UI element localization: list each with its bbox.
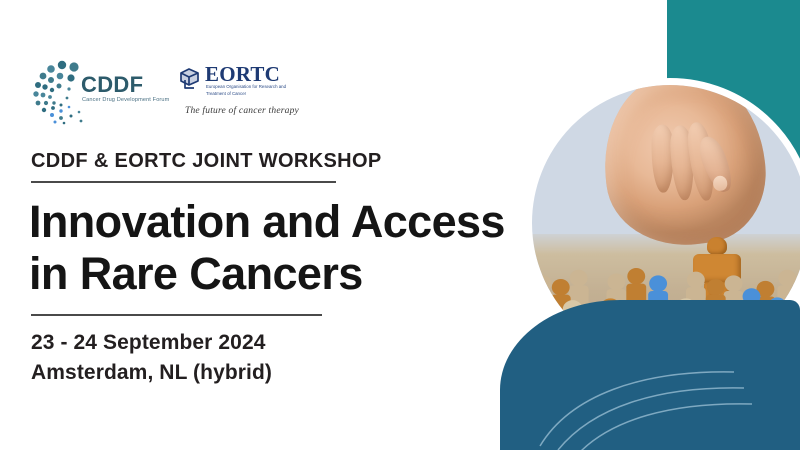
cddf-logo: CDDF Cancer Drug Development Forum <box>31 60 153 126</box>
eortc-tagline: The future of cancer therapy <box>185 106 299 116</box>
workshop-kicker: CDDF & EORTC JOINT WORKSHOP <box>31 150 382 173</box>
divider-bottom <box>31 314 322 316</box>
title-line-1: Innovation and Access <box>29 196 549 248</box>
content-column: CDDF Cancer Drug Development Forum EORTC <box>0 0 560 450</box>
eortc-wordmark: EORTC <box>205 64 280 85</box>
logo-row: CDDF Cancer Drug Development Forum EORTC <box>31 60 299 130</box>
cddf-wordmark: CDDF <box>81 74 143 96</box>
eortc-logo: EORTC European Organisation for Research… <box>177 60 299 130</box>
event-dates: 23 - 24 September 2024 <box>31 328 272 358</box>
event-meta: 23 - 24 September 2024 Amsterdam, NL (hy… <box>31 328 272 388</box>
cddf-subtitle: Cancer Drug Development Forum <box>82 97 169 103</box>
title-line-2: in Rare Cancers <box>29 248 549 300</box>
event-location: Amsterdam, NL (hybrid) <box>31 358 272 388</box>
cube-mark-icon <box>177 66 203 92</box>
divider-top <box>31 181 336 183</box>
page-title: Innovation and Access in Rare Cancers <box>29 196 549 300</box>
event-banner: CDDF Cancer Drug Development Forum EORTC <box>0 0 800 450</box>
eortc-subtitle: European Organisation for Research and T… <box>206 84 302 97</box>
